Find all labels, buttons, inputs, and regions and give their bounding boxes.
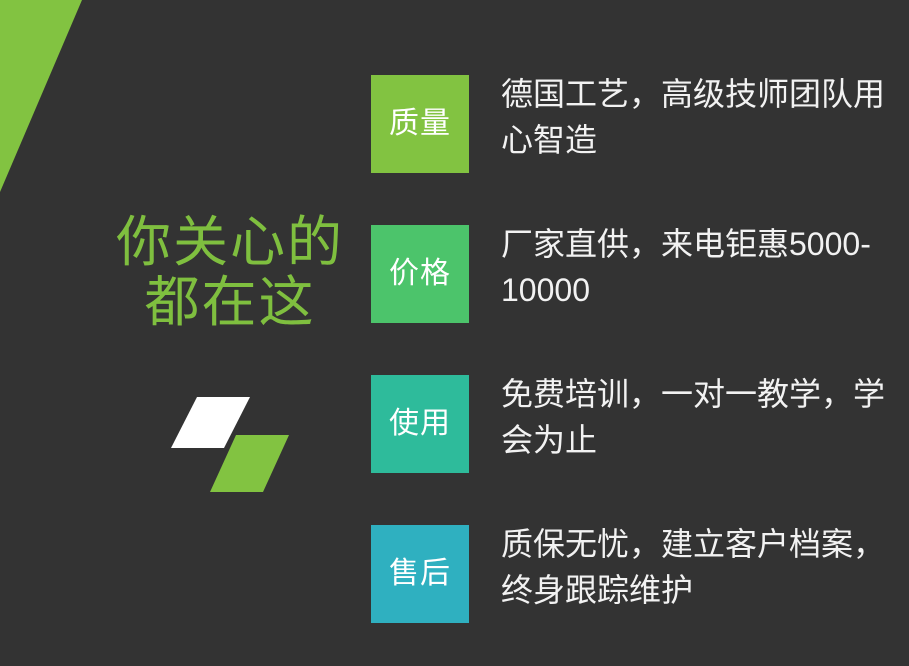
- feature-description: 厂家直供，来电钜惠5000-10000: [501, 221, 901, 313]
- feature-description: 德国工艺，高级技师团队用心智造: [501, 71, 901, 163]
- feature-description: 质保无忧，建立客户档案，终身跟踪维护: [501, 521, 901, 613]
- brand-logo: [170, 388, 290, 500]
- feature-description: 免费培训，一对一教学，学会为止: [501, 371, 901, 463]
- feature-badge-aftersales[interactable]: 售后: [371, 525, 469, 623]
- feature-row: 售后 质保无忧，建立客户档案，终身跟踪维护: [371, 525, 901, 623]
- feature-row: 质量 德国工艺，高级技师团队用心智造: [371, 75, 901, 173]
- page-title: 你关心的 都在这: [96, 212, 364, 332]
- feature-badge-label: 价格: [389, 259, 451, 289]
- feature-badge-label: 使用: [389, 409, 451, 439]
- feature-row: 使用 免费培训，一对一教学，学会为止: [371, 375, 901, 473]
- feature-badge-usage[interactable]: 使用: [371, 375, 469, 473]
- corner-accent-triangle: [0, 0, 82, 192]
- feature-badge-label: 质量: [389, 109, 451, 139]
- feature-row: 价格 厂家直供，来电钜惠5000-10000: [371, 225, 901, 323]
- feature-list: 质量 德国工艺，高级技师团队用心智造 价格 厂家直供，来电钜惠5000-1000…: [371, 75, 901, 623]
- slide-canvas: 你关心的 都在这 质量 德国工艺，高级技师团队用心智造 价格 厂家直供，来电钜惠…: [0, 0, 909, 666]
- feature-badge-label: 售后: [389, 559, 451, 589]
- feature-badge-price[interactable]: 价格: [371, 225, 469, 323]
- feature-badge-quality[interactable]: 质量: [371, 75, 469, 173]
